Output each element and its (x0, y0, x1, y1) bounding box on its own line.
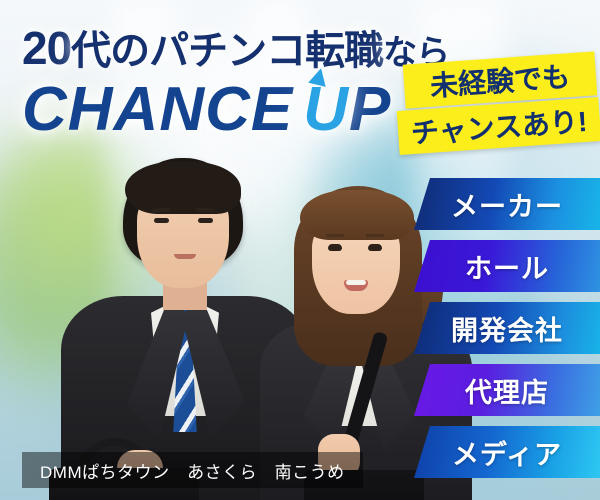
logo-u-letter: U (303, 75, 349, 144)
caption-bar: DMMぱちタウン あさくら 南こうめ (22, 452, 363, 488)
headline-text: 20代のパチンコ転職なら (22, 18, 449, 76)
badge-no-experience-label: 未経験でも (429, 55, 571, 105)
category-button-maker[interactable]: メーカー (414, 178, 600, 230)
category-button-hall[interactable]: ホール (414, 240, 600, 292)
category-label-hall: ホール (465, 247, 549, 286)
man-eye (154, 218, 169, 223)
man-hair-fringe (125, 162, 241, 214)
category-button-developer[interactable]: 開発会社 (414, 302, 600, 354)
woman-eyebrow (326, 234, 344, 237)
category-label-agency: 代理店 (465, 371, 549, 410)
headline-middle: 代のパチンコ転職 (71, 29, 383, 73)
woman-eye (368, 244, 382, 251)
category-list: メーカー ホール 開発会社 代理店 メディア (400, 178, 600, 488)
category-label-media: メディア (452, 433, 562, 472)
caption-text: DMMぱちタウン あさくら 南こうめ (40, 458, 345, 483)
woman-eye (328, 244, 342, 251)
woman-teeth (346, 280, 366, 285)
logo-up-group: UP (303, 74, 391, 145)
woman-eyebrow (366, 234, 384, 237)
chance-up-logo: CHANCEUP (22, 74, 391, 145)
man-eye (198, 218, 213, 223)
category-label-developer: 開発会社 (451, 309, 563, 348)
chance-up-banner[interactable]: 20代のパチンコ転職なら CHANCEUP 未経験でも チャンスあり! メーカー… (0, 0, 600, 500)
logo-p-letter: P (349, 75, 391, 144)
man-mouth (174, 254, 196, 259)
category-button-media[interactable]: メディア (414, 426, 600, 478)
category-label-maker: メーカー (451, 185, 563, 224)
woman-hair-fringe (300, 190, 414, 240)
headline-number: 20 (22, 22, 71, 74)
logo-chance-text: CHANCE (22, 75, 293, 144)
category-button-agency[interactable]: 代理店 (414, 364, 600, 416)
